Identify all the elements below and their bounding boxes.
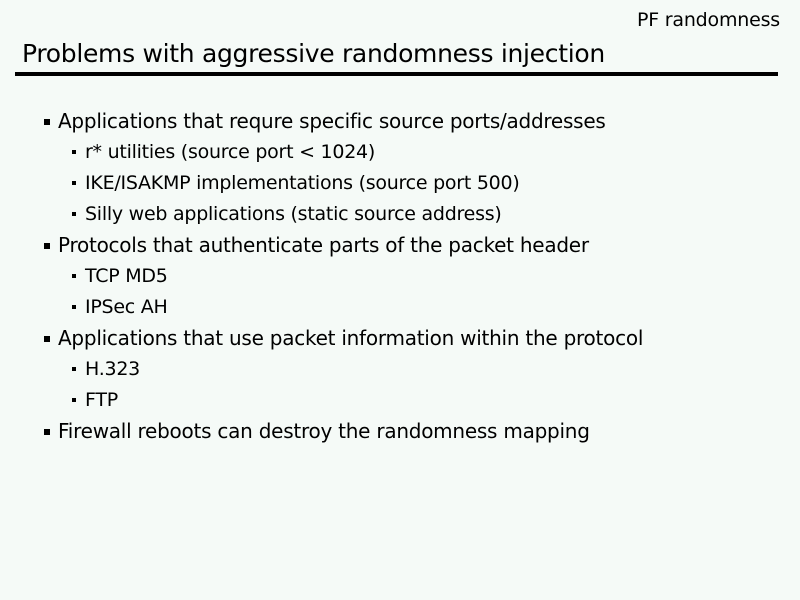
bullet-item-label: IKE/ISAKMP implementations (source port … xyxy=(85,170,520,196)
slide-bullet-list: Applications that requre specific source… xyxy=(0,108,800,449)
square-bullet-icon xyxy=(72,212,76,216)
presentation-slide: PF randomness Problems with aggressive r… xyxy=(0,0,800,600)
square-bullet-icon xyxy=(44,243,50,249)
square-bullet-icon xyxy=(44,336,50,342)
bullet-item: FTP xyxy=(0,387,800,418)
square-bullet-icon xyxy=(72,305,76,309)
bullet-item: Applications that use packet information… xyxy=(0,325,800,356)
bullet-item-label: H.323 xyxy=(85,356,140,382)
bullet-item-label: r* utilities (source port < 1024) xyxy=(85,139,375,165)
square-bullet-icon xyxy=(72,367,76,371)
square-bullet-icon xyxy=(72,150,76,154)
square-bullet-icon xyxy=(72,181,76,185)
bullet-item-label: FTP xyxy=(85,387,118,413)
bullet-item-label: Applications that requre specific source… xyxy=(58,108,606,134)
bullet-item-label: IPSec AH xyxy=(85,294,168,320)
bullet-item-label: Firewall reboots can destroy the randomn… xyxy=(58,418,590,444)
square-bullet-icon xyxy=(44,429,50,435)
bullet-item: TCP MD5 xyxy=(0,263,800,294)
bullet-item: IPSec AH xyxy=(0,294,800,325)
bullet-item: Protocols that authenticate parts of the… xyxy=(0,232,800,263)
bullet-item-label: TCP MD5 xyxy=(85,263,168,289)
bullet-item: H.323 xyxy=(0,356,800,387)
bullet-item: Firewall reboots can destroy the randomn… xyxy=(0,418,800,449)
bullet-item-label: Applications that use packet information… xyxy=(58,325,643,351)
slide-header-label: PF randomness xyxy=(637,8,780,32)
bullet-item: IKE/ISAKMP implementations (source port … xyxy=(0,170,800,201)
bullet-item-label: Silly web applications (static source ad… xyxy=(85,201,502,227)
square-bullet-icon xyxy=(72,274,76,278)
bullet-item: Applications that requre specific source… xyxy=(0,108,800,139)
bullet-item: Silly web applications (static source ad… xyxy=(0,201,800,232)
square-bullet-icon xyxy=(44,119,50,125)
bullet-item-label: Protocols that authenticate parts of the… xyxy=(58,232,589,258)
title-divider-rule xyxy=(15,72,778,76)
square-bullet-icon xyxy=(72,398,76,402)
bullet-item: r* utilities (source port < 1024) xyxy=(0,139,800,170)
slide-title: Problems with aggressive randomness inje… xyxy=(22,38,605,70)
